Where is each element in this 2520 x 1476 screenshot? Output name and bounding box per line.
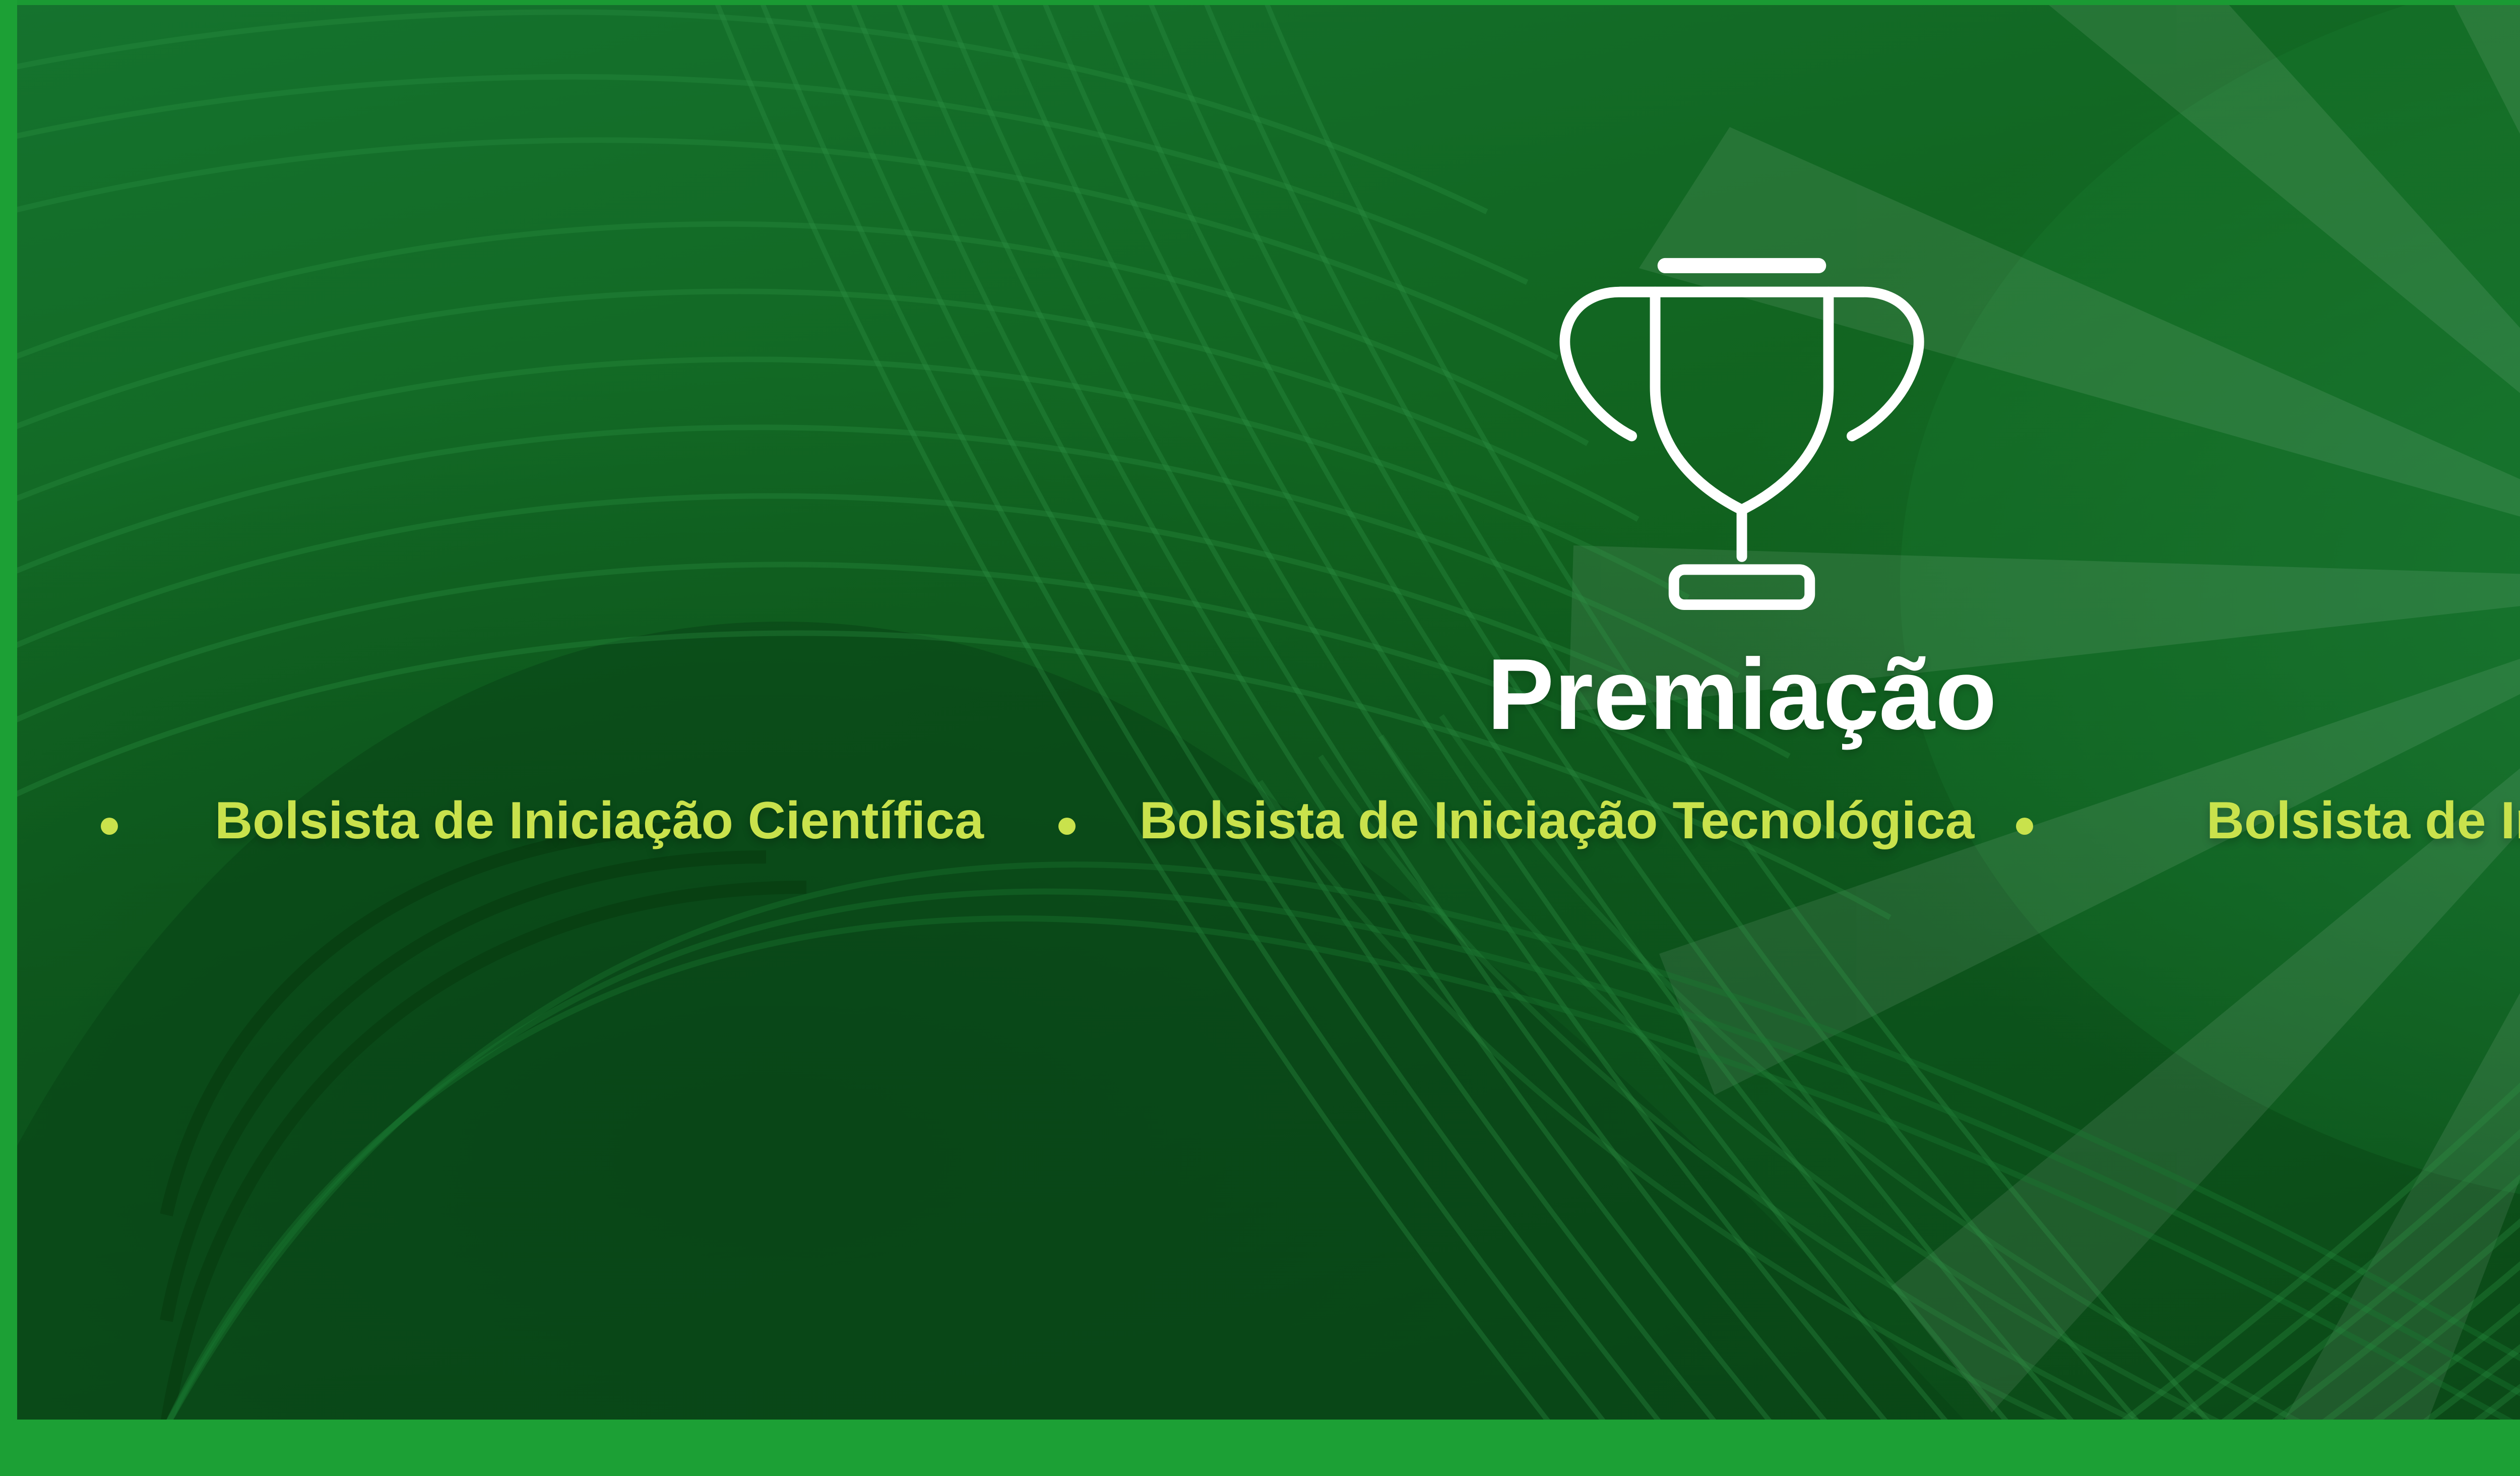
award-label: Bolsista de Iniciação Tecnológica [1098,791,2016,850]
award-label: Bolsista de Iniciação Científica [140,791,1058,850]
trophy-icon [1505,237,1979,635]
list-item: Bolsista de Iniciação Científica [101,791,1058,850]
premiacao-banner: Premiação Bolsista de Iniciação Científi… [0,0,2520,1476]
bullet-dot-icon [2016,818,2033,835]
page-title: Premiação [1487,644,1997,745]
bullet-dot-icon [101,818,118,835]
list-item: Bolsista de Iniciação Científica Júnior [2016,791,2520,850]
awards-list: Bolsista de Iniciação Científica Bolsist… [0,791,2520,850]
banner-content: Premiação Bolsista de Iniciação Científi… [0,0,2520,1476]
list-item: Bolsista de Iniciação Tecnológica [1058,791,2016,850]
award-label: Bolsista de Iniciação Científica Júnior [2055,791,2520,850]
bullet-dot-icon [1058,818,1076,835]
